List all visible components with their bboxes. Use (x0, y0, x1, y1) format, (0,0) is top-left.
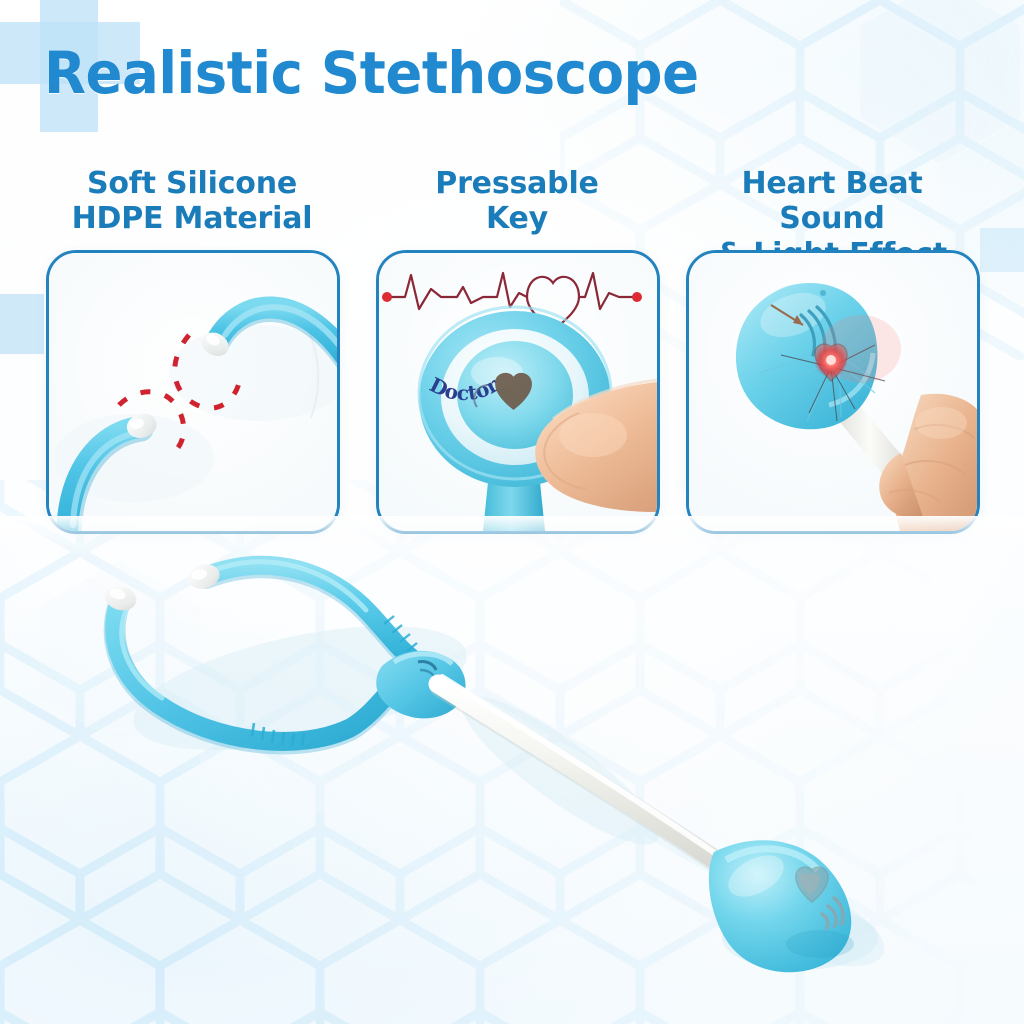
feature-heading-pressable-key: Pressable Key (376, 166, 658, 237)
feature-heading-line2: Key (376, 201, 658, 236)
chestpiece (709, 840, 878, 972)
feature-heading-line1: Pressable (435, 166, 598, 201)
feature-heading-soft-silicone: Soft Silicone HDPE Material (46, 166, 338, 237)
feature-heading-line1: Heart Beat Sound (741, 166, 922, 236)
feature-heading-line1: Soft Silicone (87, 166, 297, 201)
pressable-key-photo: Family Doctor (379, 253, 657, 531)
soft-silicone-photo (49, 253, 337, 531)
feature-panel-soft-silicone (46, 250, 340, 534)
feature-panel-pressable-key: Family Doctor (376, 250, 660, 534)
accent-block-right (980, 228, 1024, 272)
feature-panel-heart-beat-sound (686, 250, 980, 534)
accent-block-left (0, 294, 44, 354)
infographic-canvas: Realistic Stethoscope Soft Silicone HDPE… (0, 0, 1024, 1024)
main-tube (438, 677, 726, 868)
page-title: Realistic Stethoscope (44, 44, 702, 102)
hero-product-image (0, 520, 1024, 1024)
heart-beat-sound-photo (689, 253, 977, 531)
feature-heading-line2: HDPE Material (46, 201, 338, 236)
stethoscope-illustration (0, 520, 1024, 1024)
